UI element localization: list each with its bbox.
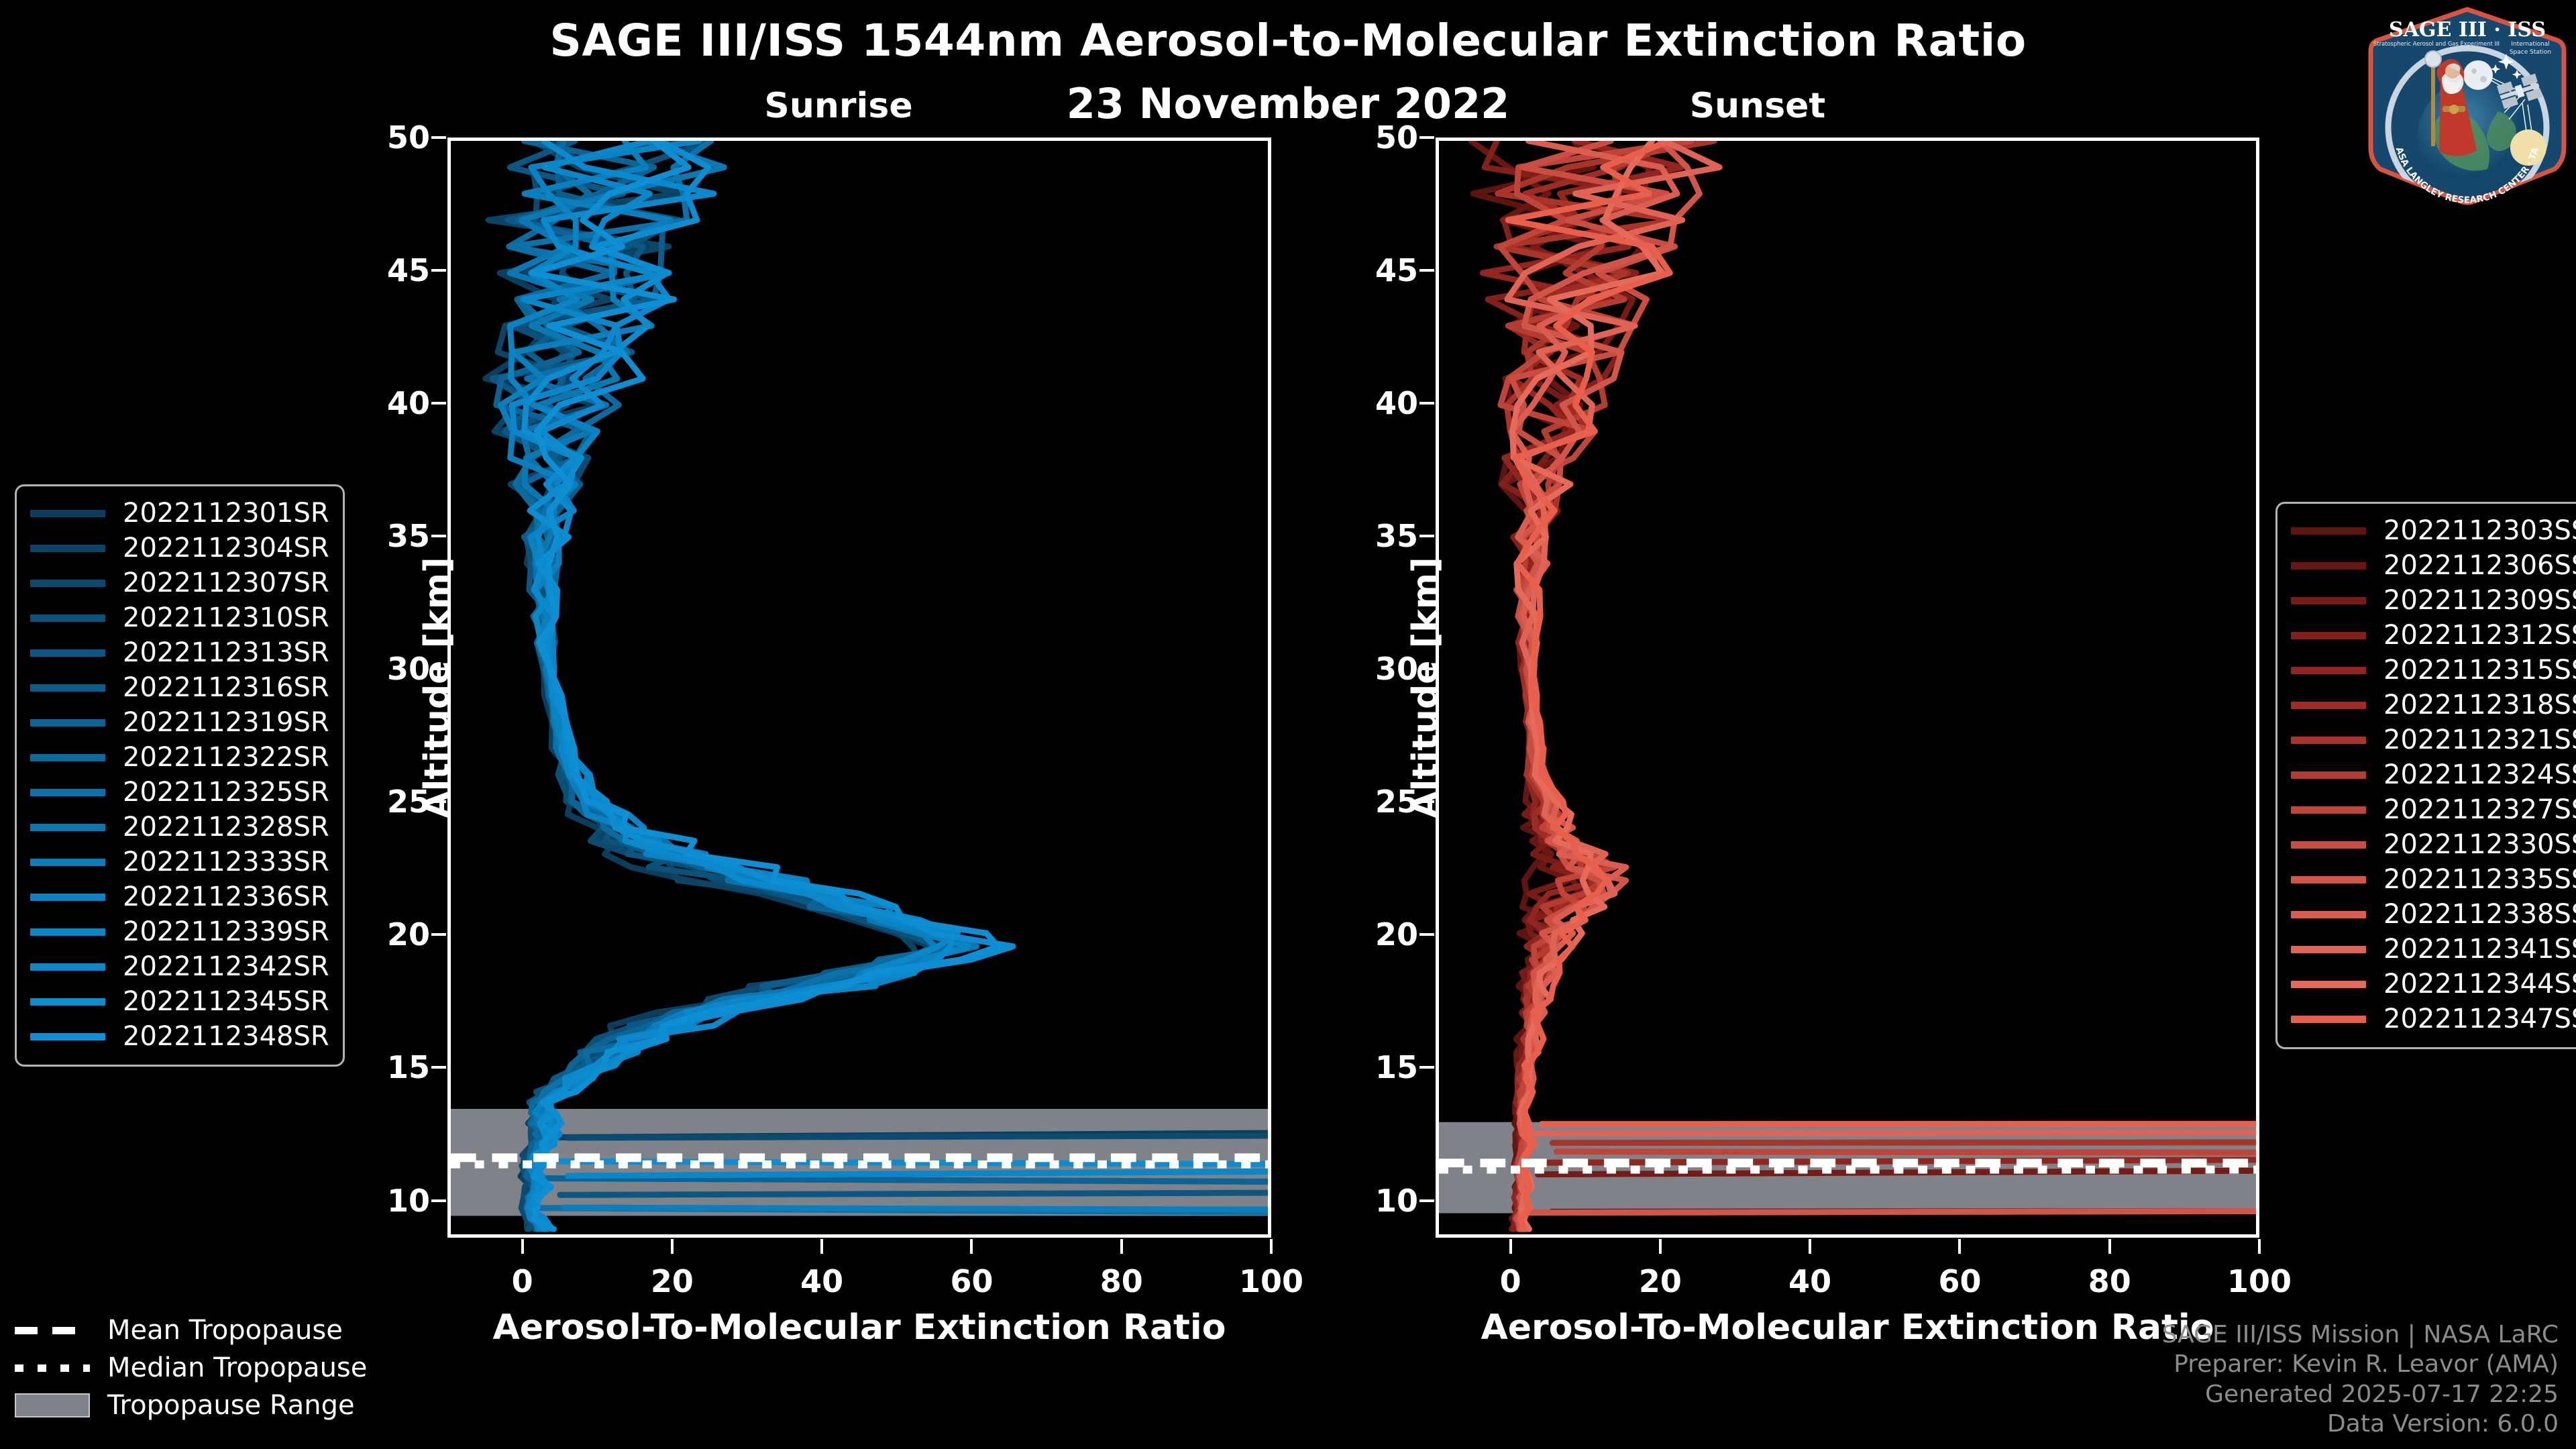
footer-mission: SAGE III/ISS Mission | NASA LaRC bbox=[2162, 1320, 2559, 1350]
y-tick-mark-50 bbox=[1419, 136, 1434, 139]
x-tick-mark-20 bbox=[671, 1239, 674, 1254]
legend-label: 2022112342SR bbox=[123, 951, 329, 982]
logo-iss-line1: International bbox=[2511, 41, 2549, 48]
x-tick-label-40: 40 bbox=[1788, 1263, 1831, 1299]
legend-label: 2022112338SS bbox=[2383, 899, 2576, 930]
legend-label: 2022112316SR bbox=[123, 672, 329, 703]
legend-label: 2022112301SR bbox=[123, 498, 329, 529]
legend-label: 2022112303SS bbox=[2383, 515, 2576, 546]
legend-row[interactable]: 2022112338SS bbox=[2291, 897, 2576, 932]
legend-row[interactable]: 2022112328SR bbox=[30, 810, 329, 845]
x-tick-label-100: 100 bbox=[1239, 1263, 1303, 1299]
moon-icon bbox=[2463, 60, 2493, 90]
legend-row[interactable]: 2022112301SR bbox=[30, 496, 329, 531]
logo-title: SAGE III · ISS bbox=[2389, 18, 2546, 42]
legend-row[interactable]: 2022112306SS bbox=[2291, 548, 2576, 583]
legend-swatch-icon bbox=[30, 789, 105, 796]
legend-label: 2022112328SR bbox=[123, 812, 329, 843]
legend-row[interactable]: 2022112309SS bbox=[2291, 583, 2576, 618]
x-tick-mark-100 bbox=[2258, 1239, 2261, 1254]
legend-row[interactable]: 2022112341SS bbox=[2291, 932, 2576, 967]
page-title: SAGE III/ISS 1544nm Aerosol-to-Molecular… bbox=[0, 15, 2576, 66]
x-tick-mark-0 bbox=[1509, 1239, 1512, 1254]
x-tick-label-80: 80 bbox=[2088, 1263, 2131, 1299]
legend-swatch-icon bbox=[30, 614, 105, 622]
y-tick-label-40: 40 bbox=[387, 385, 430, 421]
x-tick-label-40: 40 bbox=[800, 1263, 843, 1299]
legend-label: 2022112306SS bbox=[2383, 550, 2576, 581]
sunrise-panel-label: Sunrise bbox=[671, 86, 1006, 126]
y-tick-label-20: 20 bbox=[387, 916, 430, 953]
legend-swatch-icon bbox=[30, 928, 105, 936]
legend-swatch-icon bbox=[2291, 667, 2366, 674]
x-tick-mark-80 bbox=[2108, 1239, 2111, 1254]
legend-row[interactable]: 2022112318SS bbox=[2291, 688, 2576, 722]
y-tick-mark-25 bbox=[431, 800, 446, 803]
sunrise-plot-panel: Altitude [km] Aerosol-To-Molecular Extin… bbox=[447, 138, 1271, 1238]
legend-label: 2022112309SS bbox=[2383, 585, 2576, 616]
legend-row[interactable]: 2022112322SR bbox=[30, 740, 329, 775]
logo-subtitle: Stratospheric Aerosol and Gas Experiment… bbox=[2373, 40, 2500, 47]
legend-label: 2022112345SR bbox=[123, 986, 329, 1017]
legend-row[interactable]: 2022112325SR bbox=[30, 775, 329, 810]
footer-data-version: Data Version: 6.0.0 bbox=[2162, 1409, 2559, 1440]
footer-credits: SAGE III/ISS Mission | NASA LaRC Prepare… bbox=[2162, 1320, 2559, 1440]
legend-label-median-tropopause: Median Tropopause bbox=[107, 1352, 367, 1383]
y-tick-mark-35 bbox=[1419, 535, 1434, 537]
y-tick-mark-15 bbox=[431, 1066, 446, 1069]
sunrise-x-axis-title: Aerosol-To-Molecular Extinction Ratio bbox=[447, 1307, 1271, 1348]
y-tick-mark-20 bbox=[1419, 933, 1434, 936]
legend-label: 2022112327SS bbox=[2383, 794, 2576, 825]
x-tick-label-0: 0 bbox=[1500, 1263, 1521, 1299]
y-tick-label-45: 45 bbox=[387, 252, 430, 288]
y-tick-mark-35 bbox=[431, 535, 446, 537]
y-tick-label-40: 40 bbox=[1375, 385, 1418, 421]
sunset-series-legend[interactable]: 2022112303SS2022112306SS2022112309SS2022… bbox=[2275, 502, 2576, 1049]
sunset-profile-plot bbox=[1439, 141, 2256, 1234]
y-tick-mark-40 bbox=[431, 402, 446, 405]
legend-label: 2022112319SR bbox=[123, 707, 329, 738]
footer-generated: Generated 2025-07-17 22:25 bbox=[2162, 1380, 2559, 1410]
legend-row[interactable]: 2022112345SR bbox=[30, 984, 329, 1019]
legend-label: 2022112339SR bbox=[123, 916, 329, 947]
x-tick-mark-100 bbox=[1270, 1239, 1273, 1254]
legend-swatch-icon bbox=[2291, 562, 2366, 570]
legend-label: 2022112341SS bbox=[2383, 934, 2576, 965]
filled-band-icon bbox=[15, 1397, 90, 1414]
y-tick-mark-10 bbox=[431, 1199, 446, 1202]
y-tick-label-30: 30 bbox=[387, 651, 430, 687]
legend-row-mean-tropopause: Mean Tropopause bbox=[15, 1311, 367, 1349]
legend-row[interactable]: 2022112315SS bbox=[2291, 653, 2576, 688]
legend-label: 2022112333SR bbox=[123, 847, 329, 877]
y-tick-label-25: 25 bbox=[1375, 784, 1418, 820]
logo-iss-line2: Space Station bbox=[2510, 49, 2551, 56]
x-tick-mark-60 bbox=[1958, 1239, 1961, 1254]
legend-label-mean-tropopause: Mean Tropopause bbox=[107, 1315, 343, 1346]
legend-row-tropopause-range: Tropopause Range bbox=[15, 1387, 367, 1424]
y-tick-label-35: 35 bbox=[1375, 518, 1418, 554]
legend-swatch-icon bbox=[2291, 737, 2366, 744]
legend-swatch-icon bbox=[2291, 597, 2366, 604]
legend-row[interactable]: 2022112347SS bbox=[2291, 1002, 2576, 1036]
y-tick-label-25: 25 bbox=[387, 784, 430, 820]
legend-label: 2022112310SR bbox=[123, 602, 329, 633]
legend-label: 2022112315SS bbox=[2383, 655, 2576, 686]
legend-swatch-icon bbox=[2291, 876, 2366, 883]
x-tick-label-80: 80 bbox=[1100, 1263, 1143, 1299]
legend-swatch-icon bbox=[2291, 527, 2366, 535]
mission-patch-svg: SAGE III · ISS Stratospheric Aerosol and… bbox=[2367, 5, 2568, 207]
legend-swatch-icon bbox=[2291, 806, 2366, 814]
legend-row[interactable]: 2022112327SS bbox=[2291, 792, 2576, 827]
legend-row[interactable]: 2022112313SR bbox=[30, 635, 329, 670]
legend-row[interactable]: 2022112321SS bbox=[2291, 722, 2576, 757]
x-tick-label-20: 20 bbox=[1639, 1263, 1682, 1299]
legend-swatch-icon bbox=[30, 824, 105, 831]
legend-label: 2022112348SR bbox=[123, 1021, 329, 1052]
y-tick-mark-10 bbox=[1419, 1199, 1434, 1202]
x-tick-label-60: 60 bbox=[1938, 1263, 1981, 1299]
profile-line-2022112309SS bbox=[1516, 141, 2256, 1229]
legend-row[interactable]: 2022112344SS bbox=[2291, 967, 2576, 1002]
legend-swatch-icon bbox=[30, 1033, 105, 1040]
y-tick-label-50: 50 bbox=[1375, 119, 1418, 156]
legend-row[interactable]: 2022112310SR bbox=[30, 600, 329, 635]
legend-row[interactable]: 2022112335SS bbox=[2291, 862, 2576, 897]
y-tick-label-20: 20 bbox=[1375, 916, 1418, 953]
legend-label: 2022112304SR bbox=[123, 533, 329, 563]
legend-row[interactable]: 2022112339SR bbox=[30, 914, 329, 949]
legend-swatch-icon bbox=[2291, 771, 2366, 779]
legend-row[interactable]: 2022112316SR bbox=[30, 670, 329, 705]
legend-row[interactable]: 2022112324SS bbox=[2291, 757, 2576, 792]
legend-swatch-icon bbox=[30, 998, 105, 1006]
y-tick-mark-40 bbox=[1419, 402, 1434, 405]
legend-swatch-icon bbox=[30, 545, 105, 552]
y-tick-label-10: 10 bbox=[387, 1183, 430, 1219]
y-tick-label-15: 15 bbox=[387, 1049, 430, 1085]
legend-swatch-icon bbox=[30, 963, 105, 971]
legend-label: 2022112347SS bbox=[2383, 1004, 2576, 1034]
legend-swatch-icon bbox=[30, 754, 105, 761]
legend-swatch-icon bbox=[2291, 632, 2366, 639]
y-tick-mark-30 bbox=[1419, 667, 1434, 670]
y-tick-label-45: 45 bbox=[1375, 252, 1418, 288]
legend-row[interactable]: 2022112307SR bbox=[30, 566, 329, 600]
x-tick-mark-20 bbox=[1659, 1239, 1662, 1254]
legend-row[interactable]: 2022112342SR bbox=[30, 949, 329, 984]
legend-row[interactable]: 2022112348SR bbox=[30, 1019, 329, 1054]
legend-swatch-icon bbox=[30, 719, 105, 727]
legend-swatch-icon bbox=[30, 859, 105, 866]
legend-swatch-icon bbox=[30, 894, 105, 901]
y-tick-mark-30 bbox=[431, 667, 446, 670]
x-tick-mark-40 bbox=[820, 1239, 823, 1254]
legend-label: 2022112312SS bbox=[2383, 620, 2576, 651]
legend-label: 2022112318SS bbox=[2383, 690, 2576, 720]
legend-swatch-icon bbox=[2291, 946, 2366, 953]
sage3-iss-mission-patch-logo: SAGE III · ISS Stratospheric Aerosol and… bbox=[2367, 5, 2568, 207]
figure-canvas: SAGE III/ISS 1544nm Aerosol-to-Molecular… bbox=[0, 0, 2576, 1449]
dashed-line-icon bbox=[15, 1322, 90, 1339]
tropopause-legend: Mean Tropopause Median Tropopause Tropop… bbox=[15, 1311, 367, 1424]
legend-label: 2022112344SS bbox=[2383, 969, 2576, 1000]
sunset-plot-frame bbox=[1436, 138, 2259, 1238]
legend-row-median-tropopause: Median Tropopause bbox=[15, 1349, 367, 1387]
legend-label: 2022112330SS bbox=[2383, 829, 2576, 860]
legend-row[interactable]: 2022112304SR bbox=[30, 531, 329, 566]
legend-label: 2022112336SR bbox=[123, 881, 329, 912]
x-tick-mark-80 bbox=[1120, 1239, 1123, 1254]
legend-swatch-icon bbox=[30, 649, 105, 657]
x-tick-mark-60 bbox=[970, 1239, 973, 1254]
legend-swatch-icon bbox=[2291, 981, 2366, 988]
legend-label: 2022112335SS bbox=[2383, 864, 2576, 895]
y-tick-mark-25 bbox=[1419, 800, 1434, 803]
legend-row[interactable]: 2022112330SS bbox=[2291, 827, 2576, 862]
y-tick-label-50: 50 bbox=[387, 119, 430, 156]
x-tick-mark-40 bbox=[1809, 1239, 1811, 1254]
legend-row[interactable]: 2022112333SR bbox=[30, 845, 329, 879]
y-tick-label-10: 10 bbox=[1375, 1183, 1418, 1219]
legend-row[interactable]: 2022112312SS bbox=[2291, 618, 2576, 653]
legend-label: 2022112307SR bbox=[123, 568, 329, 598]
legend-row[interactable]: 2022112319SR bbox=[30, 705, 329, 740]
legend-row[interactable]: 2022112303SS bbox=[2291, 513, 2576, 548]
legend-label: 2022112321SS bbox=[2383, 724, 2576, 755]
dotted-line-icon bbox=[15, 1359, 90, 1377]
sunset-panel-label: Sunset bbox=[1590, 86, 1925, 126]
legend-label: 2022112322SR bbox=[123, 742, 329, 773]
legend-swatch-icon bbox=[2291, 911, 2366, 918]
sunrise-plot-frame bbox=[447, 138, 1271, 1238]
sunset-y-axis-title: Altitude [km] bbox=[1405, 557, 1446, 818]
sunset-plot-panel: Altitude [km] Aerosol-To-Molecular Extin… bbox=[1436, 138, 2259, 1238]
legend-swatch-icon bbox=[2291, 1016, 2366, 1023]
y-tick-mark-20 bbox=[431, 933, 446, 936]
legend-label-tropopause-range: Tropopause Range bbox=[107, 1390, 355, 1421]
x-tick-mark-0 bbox=[521, 1239, 524, 1254]
y-tick-label-35: 35 bbox=[387, 518, 430, 554]
legend-label: 2022112325SR bbox=[123, 777, 329, 808]
x-tick-label-60: 60 bbox=[950, 1263, 993, 1299]
legend-swatch-icon bbox=[2291, 841, 2366, 849]
legend-row[interactable]: 2022112336SR bbox=[30, 879, 329, 914]
legend-label: 2022112313SR bbox=[123, 637, 329, 668]
y-tick-mark-50 bbox=[431, 136, 446, 139]
x-tick-label-100: 100 bbox=[2227, 1263, 2292, 1299]
legend-swatch-icon bbox=[30, 580, 105, 587]
sunrise-y-axis-title: Altitude [km] bbox=[417, 557, 458, 818]
y-tick-mark-45 bbox=[1419, 269, 1434, 272]
legend-swatch-icon bbox=[30, 510, 105, 517]
sunrise-profile-plot bbox=[451, 141, 1268, 1234]
legend-swatch-icon bbox=[30, 684, 105, 692]
y-tick-mark-15 bbox=[1419, 1066, 1434, 1069]
y-tick-mark-45 bbox=[431, 269, 446, 272]
sunrise-series-legend[interactable]: 2022112301SR2022112304SR2022112307SR2022… bbox=[15, 484, 345, 1067]
sunset-x-axis-title: Aerosol-To-Molecular Extinction Ratio bbox=[1436, 1307, 2259, 1348]
y-tick-label-30: 30 bbox=[1375, 651, 1418, 687]
x-tick-label-20: 20 bbox=[651, 1263, 694, 1299]
legend-swatch-icon bbox=[2291, 702, 2366, 709]
profile-line-2022112341SS bbox=[1507, 141, 2256, 1229]
x-tick-label-0: 0 bbox=[512, 1263, 533, 1299]
footer-preparer: Preparer: Kevin R. Leavor (AMA) bbox=[2162, 1350, 2559, 1380]
profile-line-2022112347SS bbox=[1508, 141, 2256, 1229]
y-tick-label-15: 15 bbox=[1375, 1049, 1418, 1085]
legend-label: 2022112324SS bbox=[2383, 759, 2576, 790]
